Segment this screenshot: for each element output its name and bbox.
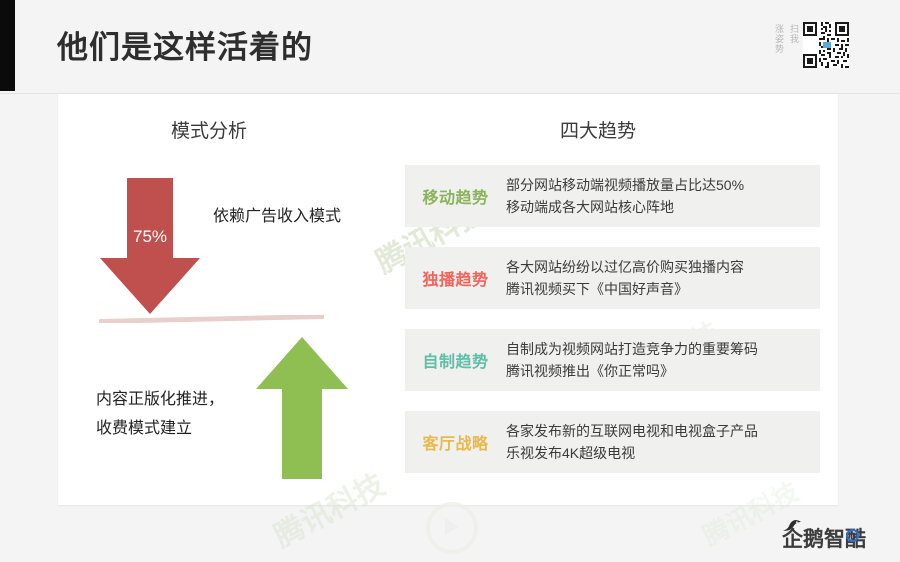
watermark-play-icon bbox=[426, 502, 478, 554]
trend-line-1: 自制成为视频网站打造竞争力的重要筹码 bbox=[506, 338, 812, 360]
trend-line-2: 腾讯视频推出《你正常吗》 bbox=[506, 360, 812, 382]
right-column-heading: 四大趋势 bbox=[560, 116, 636, 143]
trend-card[interactable]: 客厅战略 各家发布新的互联网电视和电视盒子产品 乐视发布4K超级电视 bbox=[405, 411, 820, 473]
trend-line-1: 各大网站纷纷以过亿高价购买独播内容 bbox=[506, 256, 812, 278]
trend-line-1: 部分网站移动端视频播放量占比达50% bbox=[506, 174, 812, 196]
slide-canvas: 他们是这样活着的 扫我 涨姿势 bbox=[0, 0, 900, 562]
qr-promo-block: 扫我 涨姿势 bbox=[760, 20, 840, 72]
header-accent-bar bbox=[0, 0, 15, 91]
slide-header: 他们是这样活着的 扫我 涨姿势 bbox=[0, 0, 900, 94]
qr-caption-line-2: 涨姿势 bbox=[772, 24, 784, 54]
page-title: 他们是这样活着的 bbox=[57, 22, 313, 67]
arrow-down-icon bbox=[100, 178, 200, 314]
divider-line bbox=[99, 315, 324, 323]
arrow-up-icon bbox=[256, 337, 348, 479]
trend-card[interactable]: 自制趋势 自制成为视频网站打造竞争力的重要筹码 腾讯视频推出《你正常吗》 bbox=[405, 329, 820, 391]
trend-label: 移动趋势 bbox=[405, 184, 506, 208]
trend-line-2: 移动端成各大网站核心阵地 bbox=[506, 196, 812, 218]
brand-accent-dot bbox=[846, 529, 859, 542]
trend-label: 客厅战略 bbox=[405, 430, 506, 454]
trend-label: 自制趋势 bbox=[405, 348, 506, 372]
trend-card[interactable]: 移动趋势 部分网站移动端视频播放量占比达50% 移动端成各大网站核心阵地 bbox=[405, 165, 820, 227]
left-column-heading: 模式分析 bbox=[171, 116, 247, 143]
trend-line-2: 乐视发布4K超级电视 bbox=[506, 442, 812, 464]
trend-label: 独播趋势 bbox=[405, 266, 506, 290]
qr-code-icon[interactable] bbox=[803, 22, 849, 68]
trend-line-1: 各家发布新的互联网电视和电视盒子产品 bbox=[506, 420, 812, 442]
left-bottom-text: 内容正版化推进，收费模式建立 bbox=[96, 385, 226, 443]
trend-description: 部分网站移动端视频播放量占比达50% 移动端成各大网站核心阵地 bbox=[506, 174, 820, 218]
trend-description: 自制成为视频网站打造竞争力的重要筹码 腾讯视频推出《你正常吗》 bbox=[506, 338, 820, 382]
trend-card[interactable]: 独播趋势 各大网站纷纷以过亿高价购买独播内容 腾讯视频买下《中国好声音》 bbox=[405, 247, 820, 309]
left-top-text: 依赖广告收入模式 bbox=[213, 203, 373, 231]
trend-description: 各大网站纷纷以过亿高价购买独播内容 腾讯视频买下《中国好声音》 bbox=[506, 256, 820, 300]
trend-line-2: 腾讯视频买下《中国好声音》 bbox=[506, 278, 812, 300]
qr-caption-line-1: 扫我 bbox=[787, 24, 799, 44]
trend-description: 各家发布新的互联网电视和电视盒子产品 乐视发布4K超级电视 bbox=[506, 420, 820, 464]
